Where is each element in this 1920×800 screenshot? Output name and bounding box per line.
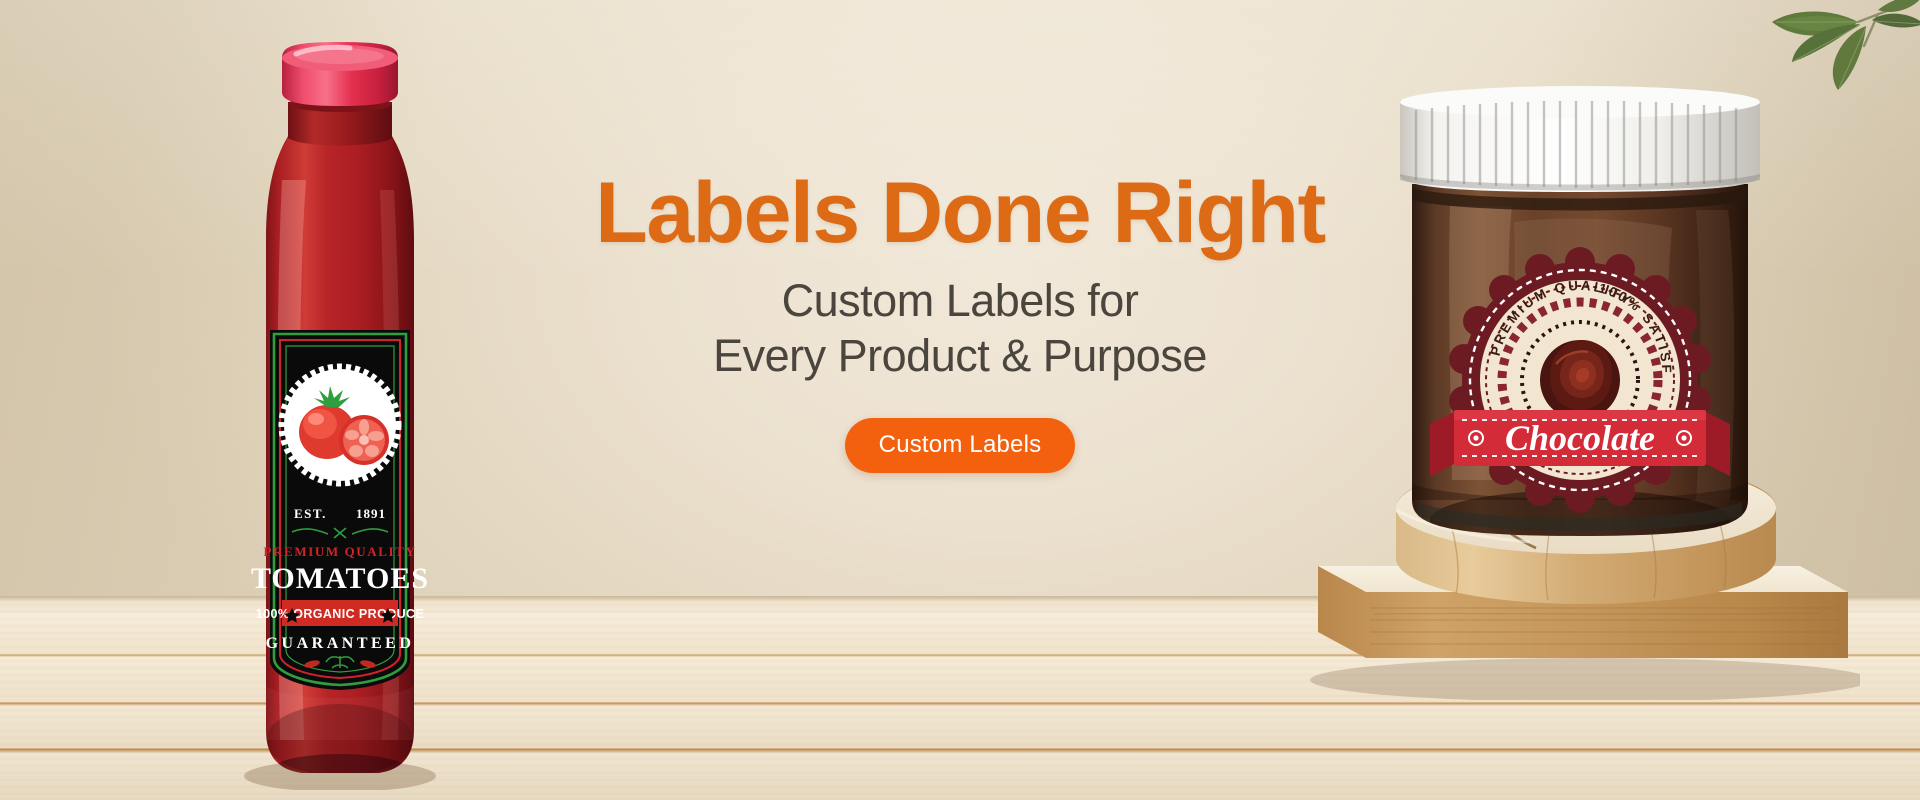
- label-footer: GUARANTEED: [266, 635, 415, 652]
- cta-container: Custom Labels: [560, 418, 1360, 473]
- label-est-year: 1891: [356, 506, 386, 521]
- bottle-cap: [282, 42, 398, 106]
- chocolate-rose-icon: [1540, 340, 1620, 420]
- subtitle-line-2: Every Product & Purpose: [560, 329, 1360, 384]
- label-title: TOMATOES: [251, 562, 429, 595]
- label-est-text: EST.: [294, 506, 327, 521]
- hero-banner: EST. 1891 PREMIUM QUALITY TOMATOES 100% …: [0, 0, 1920, 800]
- jar-lid: [1400, 86, 1760, 192]
- badge-ribbon-text: Chocolate: [1505, 418, 1655, 458]
- page-title: Labels Done Right: [560, 170, 1360, 256]
- tomato-label: EST. 1891 PREMIUM QUALITY TOMATOES 100% …: [251, 330, 429, 690]
- custom-labels-button[interactable]: Custom Labels: [845, 418, 1076, 473]
- hero-copy-block: Labels Done Right Custom Labels for Ever…: [560, 170, 1360, 473]
- hero-subtitle: Custom Labels for Every Product & Purpos…: [560, 274, 1360, 384]
- label-eyebrow: PREMIUM QUALITY: [264, 544, 417, 559]
- label-organic-text: 100% ORGANIC PRODUCE: [256, 607, 424, 621]
- chocolate-jar-group: PREMIUM QUALITY 100% SATISFIED: [1300, 80, 1860, 700]
- tomato-sauce-bottle: EST. 1891 PREMIUM QUALITY TOMATOES 100% …: [230, 40, 450, 790]
- subtitle-line-1: Custom Labels for: [560, 274, 1360, 329]
